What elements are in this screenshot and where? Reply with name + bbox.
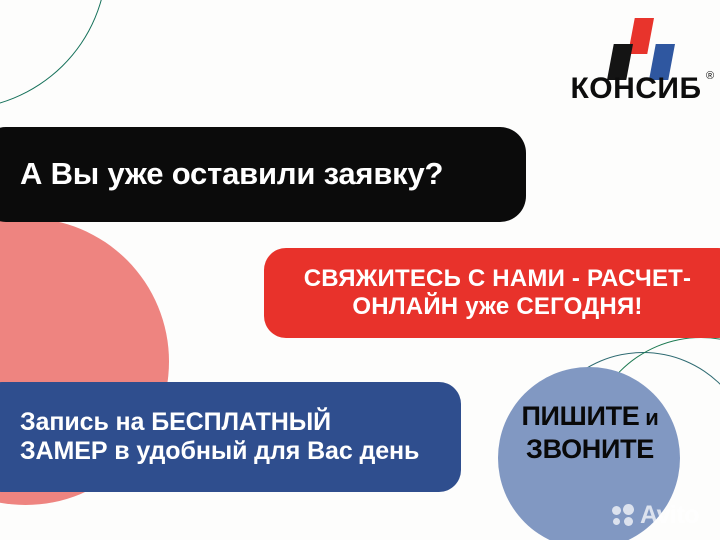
offer-line-2-strong-a: ОНЛАЙН <box>352 293 458 320</box>
headline-banner: А Вы уже оставили заявку? <box>0 127 526 222</box>
green-ring-decoration-top-left <box>0 0 107 110</box>
logo-wordmark-text: КОНСИБ <box>570 72 701 105</box>
logo-wordmark: КОНСИБ ® <box>570 74 701 104</box>
measurement-banner: Запись на БЕСПЛАТНЫЙ ЗАМЕР в удобный для… <box>0 382 461 492</box>
logo-mark-icon <box>566 18 706 72</box>
contact-caption: ПИШИТЕ и ЗВОНИТЕ <box>492 400 688 466</box>
brand-logo: КОНСИБ ® <box>566 18 706 106</box>
offer-banner: СВЯЖИТЕСЬ С НАМИ - РАСЧЕТ- ОНЛАЙН уже СЕ… <box>264 248 720 338</box>
registered-trademark-icon: ® <box>706 71 715 82</box>
measurement-line-2: ЗАМЕР в удобный для Вас день <box>20 437 441 467</box>
contact-line-1-strong: ПИШИТЕ <box>521 401 639 431</box>
headline-text: А Вы уже оставили заявку? <box>20 156 504 193</box>
promo-banner: КОНСИБ ® А Вы уже оставили заявку? СВЯЖИ… <box>0 0 720 540</box>
contact-line-2: ЗВОНИТЕ <box>492 433 688 466</box>
offer-line-2-plain: уже <box>458 293 516 320</box>
offer-line-2-strong-b: СЕГОДНЯ! <box>516 293 642 320</box>
contact-line-1-plain: и <box>640 405 659 430</box>
offer-text: СВЯЖИТЕСЬ С НАМИ - РАСЧЕТ- ОНЛАЙН уже СЕ… <box>285 265 710 322</box>
measurement-text: Запись на БЕСПЛАТНЫЙ ЗАМЕР в удобный для… <box>20 408 441 467</box>
offer-line-1: СВЯЖИТЕСЬ С НАМИ - РАСЧЕТ- <box>285 265 710 293</box>
contact-line-1: ПИШИТЕ и <box>492 400 688 433</box>
measurement-line-1: Запись на БЕСПЛАТНЫЙ <box>20 408 441 438</box>
offer-line-2: ОНЛАЙН уже СЕГОДНЯ! <box>285 293 710 321</box>
